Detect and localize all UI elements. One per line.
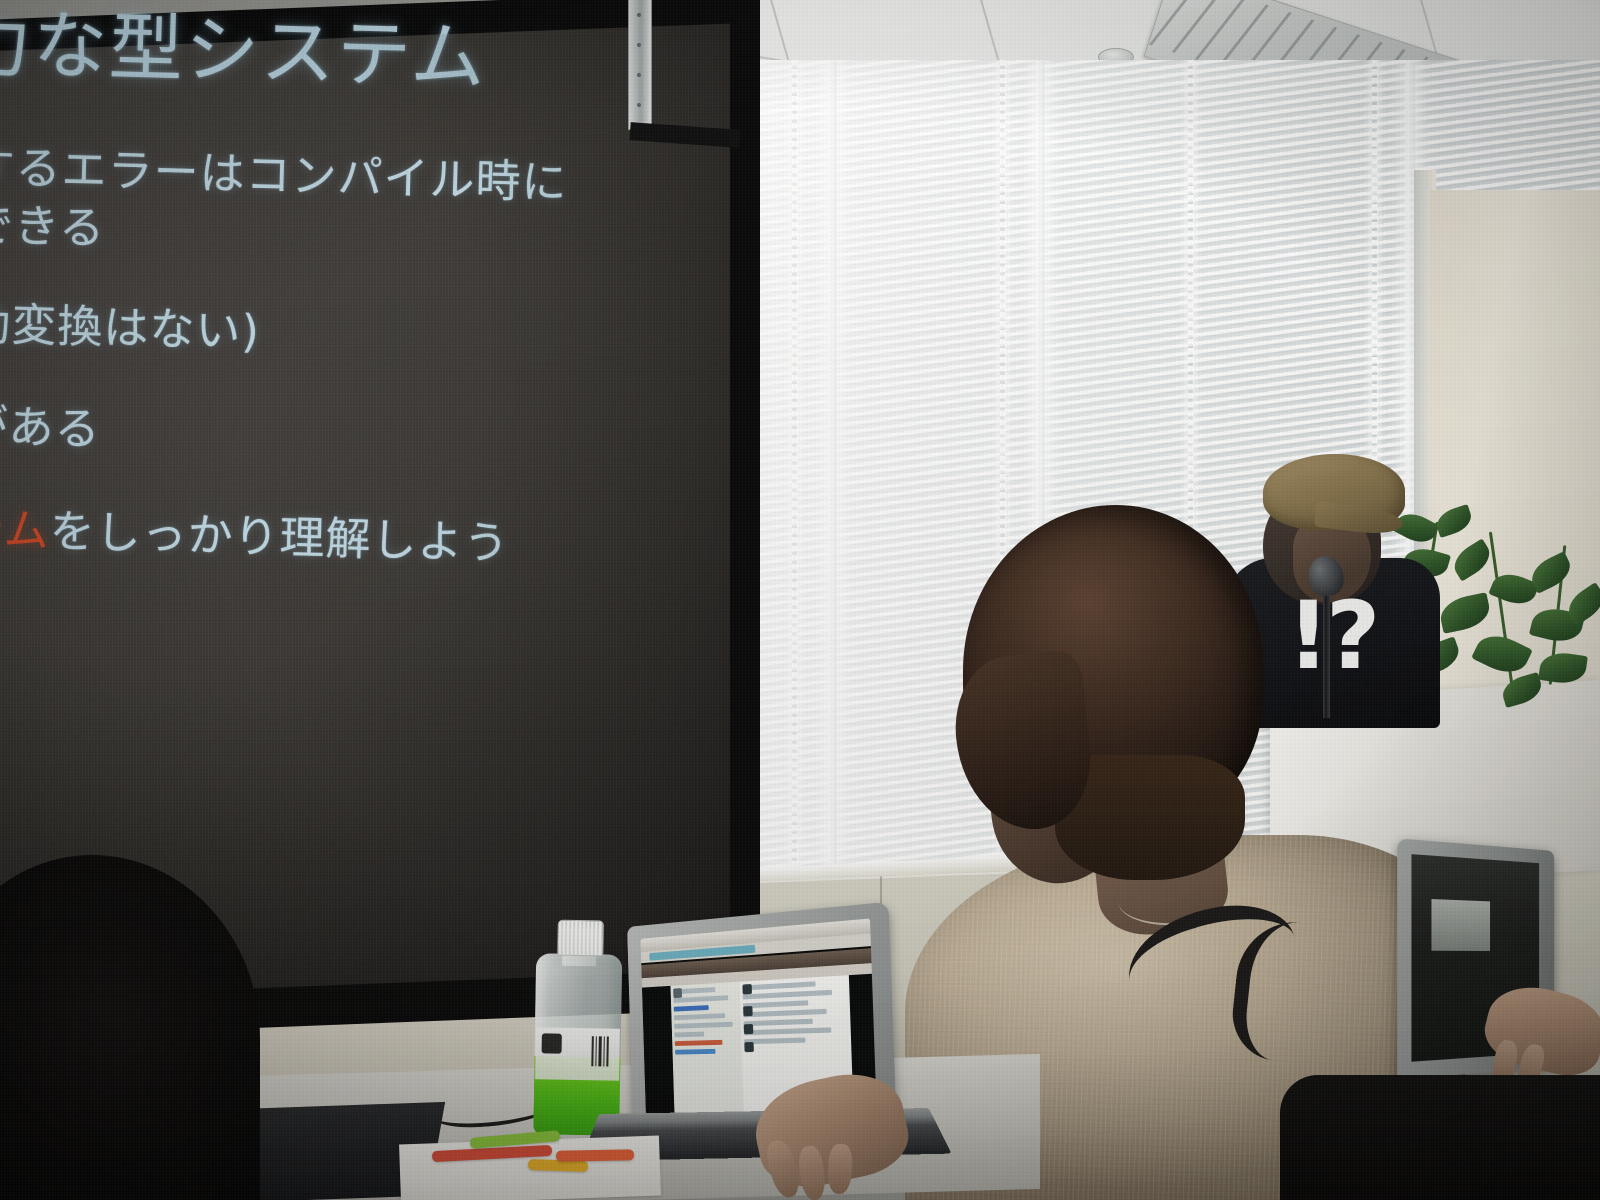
pen[interactable] <box>556 1149 634 1161</box>
bottle-cap <box>557 920 604 957</box>
slide-closing-highlight: ンステム <box>0 499 50 557</box>
slide-bullet-1: に関するエラーはコンパイル時に検出できる <box>0 135 574 271</box>
slide-bullet-3: 推論がある <box>0 395 567 472</box>
photo-scene: 強力な型システム に関するエラーはコンパイル時に検出できる の自動変換はない) … <box>0 0 1600 1200</box>
blind-cord <box>792 60 797 880</box>
screen-mount-bracket <box>628 0 652 130</box>
slide-content: 強力な型システム に関するエラーはコンパイル時に検出できる の自動変換はない) … <box>0 1 578 615</box>
chair-back <box>1280 1075 1600 1200</box>
slide-closing-line: ンステムをしっかり理解しよう <box>0 497 564 574</box>
slide-bullet-2: の自動変換はない) <box>0 292 570 369</box>
slide-closing-rest: をしっかり理解しよう <box>49 504 510 569</box>
laptop-window <box>1431 899 1490 951</box>
slide-bullet-list: に関するエラーはコンパイル時に検出できる の自動変換はない) 推論がある ンステ… <box>0 135 574 574</box>
window-mullion <box>828 60 837 880</box>
